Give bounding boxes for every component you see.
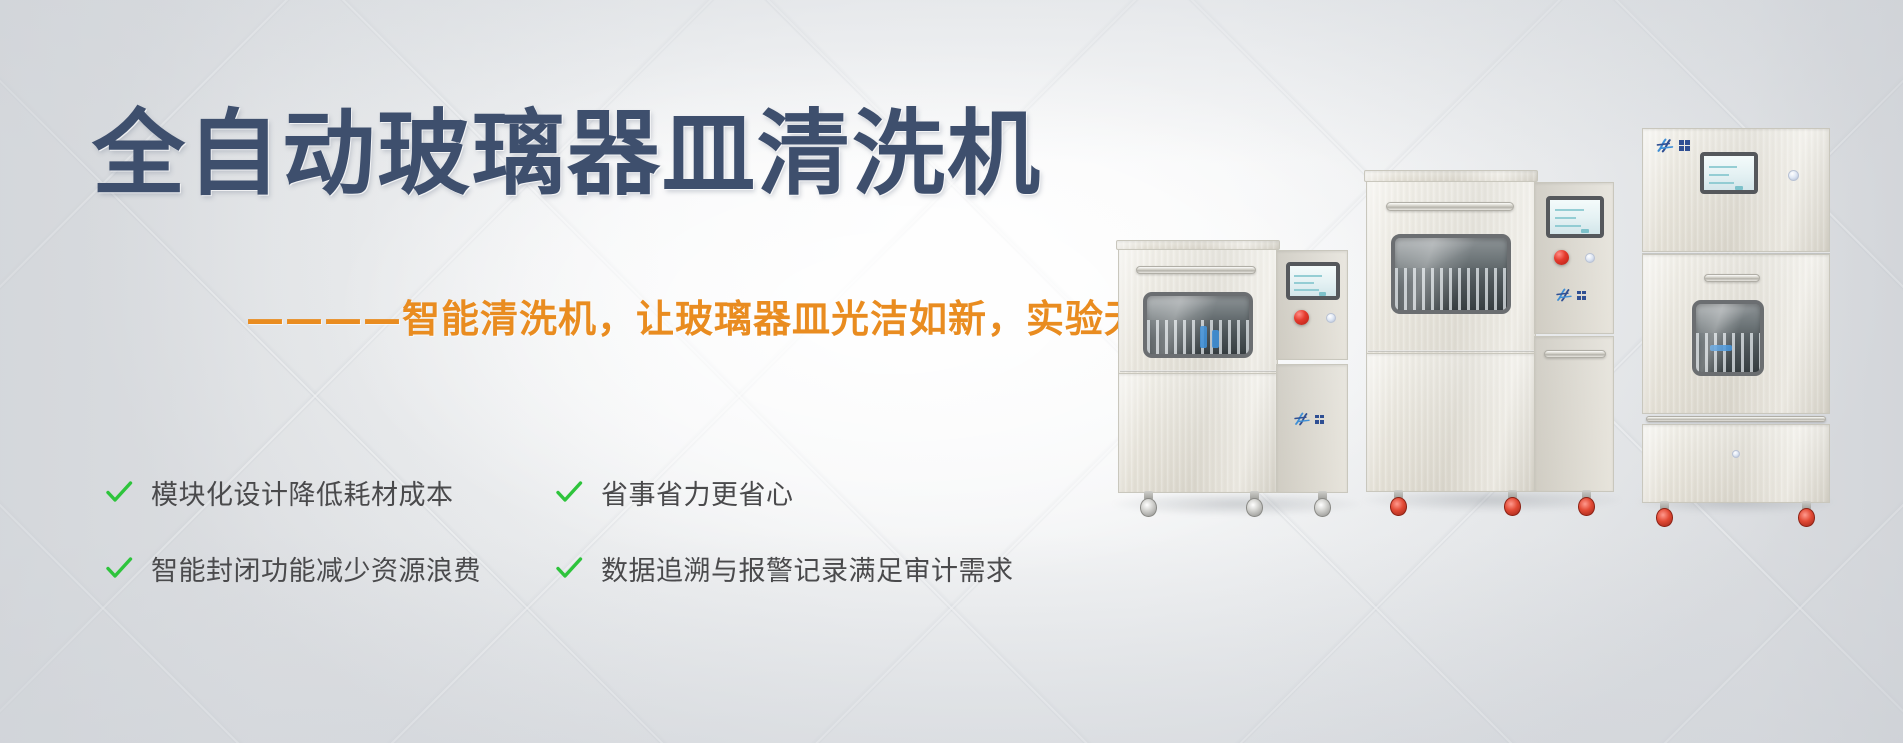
feature-label: 省事省力更省心: [601, 473, 794, 512]
emergency-stop-button[interactable]: [1294, 310, 1309, 325]
blue-pipette: [1212, 330, 1219, 348]
feature-label: 智能封闭功能减少资源浪费: [151, 549, 481, 588]
power-button[interactable]: [1326, 313, 1336, 323]
door-handle[interactable]: [1704, 274, 1760, 282]
washer-top-lip: [1364, 170, 1538, 182]
caster-wheel: [1140, 491, 1157, 517]
feature-item: 数据追溯与报警记录满足审计需求: [555, 538, 1065, 598]
lower-drawer-panel: [1118, 373, 1278, 493]
caster-wheel: [1314, 491, 1331, 517]
caster-wheel: [1578, 490, 1595, 516]
caster-wheel: [1390, 490, 1407, 516]
brand-mark-icon: [1294, 412, 1312, 426]
screen-indicator: [1735, 186, 1743, 190]
touchscreen-display[interactable]: [1700, 152, 1758, 194]
door-handle[interactable]: [1544, 350, 1606, 358]
door-handle[interactable]: [1646, 416, 1826, 422]
door-seam: [1368, 350, 1534, 352]
feature-label: 模块化设计降低耗材成本: [151, 473, 454, 512]
feature-label: 数据追溯与报警记录满足审计需求: [601, 549, 1014, 588]
screen-line: [1709, 182, 1734, 184]
power-button[interactable]: [1788, 170, 1799, 181]
feature-list: 模块化设计降低耗材成本 省事省力更省心 智能封闭功能减少资源浪费 数据追溯与报警…: [105, 462, 1065, 598]
screen-line: [1294, 289, 1319, 291]
page-subtitle: ————智能清洗机，让玻璃器皿光洁如新，实验无忧！: [246, 288, 1221, 343]
undercounter-glassware-washer: [1118, 240, 1348, 500]
control-column-cabinet: [1276, 364, 1348, 493]
lower-drawer-panel: [1366, 353, 1536, 492]
screen-line: [1555, 225, 1581, 227]
caster-wheel: [1798, 501, 1815, 527]
screen-line: [1294, 275, 1322, 277]
product-image-group: [1090, 0, 1903, 743]
caster-wheel: [1504, 490, 1521, 516]
caster-wheel: [1656, 501, 1673, 527]
brand-mark-icon: [1556, 288, 1574, 302]
banner-copy: 全自动玻璃器皿清洗机 ————智能清洗机，让玻璃器皿光洁如新，实验无忧！ 模块化…: [0, 0, 1120, 743]
check-icon: [105, 554, 133, 582]
screen-line: [1709, 174, 1729, 176]
screen-indicator: [1319, 292, 1326, 296]
check-icon: [105, 478, 133, 506]
touchscreen-display[interactable]: [1286, 262, 1340, 300]
page-title: 全自动玻璃器皿清洗机: [92, 104, 1042, 204]
emergency-stop-button[interactable]: [1554, 250, 1569, 265]
feature-item: 智能封闭功能减少资源浪费: [105, 538, 473, 598]
cabinet-lock-icon: [1732, 450, 1740, 458]
brand-logo: [1294, 412, 1324, 426]
screen-indicator: [1581, 229, 1589, 233]
brand-logo: [1656, 138, 1690, 153]
lower-cabinet-panel: [1642, 424, 1830, 503]
viewing-window: [1143, 292, 1253, 358]
door-handle[interactable]: [1136, 266, 1256, 274]
feature-item: 省事省力更省心: [555, 462, 1065, 522]
check-icon: [555, 478, 583, 506]
touchscreen-display[interactable]: [1546, 196, 1604, 238]
viewing-window: [1391, 234, 1511, 314]
brand-blocks-icon: [1679, 140, 1690, 151]
freestanding-glassware-washer: [1366, 170, 1614, 500]
check-icon: [555, 554, 583, 582]
viewing-window: [1692, 300, 1764, 376]
power-button[interactable]: [1585, 253, 1595, 263]
tall-column-glassware-washer: [1642, 128, 1832, 503]
screen-line: [1709, 166, 1737, 168]
brand-mark-icon: [1656, 138, 1676, 153]
brand-logo: [1556, 288, 1586, 302]
caster-wheel: [1246, 491, 1263, 517]
screen-line: [1294, 282, 1314, 284]
door-seam: [1120, 370, 1276, 372]
screen-line: [1555, 217, 1576, 219]
control-column-cabinet: [1534, 336, 1614, 492]
product-banner: 全自动玻璃器皿清洗机 ————智能清洗机，让玻璃器皿光洁如新，实验无忧！ 模块化…: [0, 0, 1903, 743]
brand-blocks-icon: [1577, 291, 1586, 300]
washer-top-lip: [1116, 240, 1280, 250]
door-handle[interactable]: [1386, 202, 1514, 211]
feature-item: 模块化设计降低耗材成本: [105, 462, 473, 522]
screen-line: [1555, 209, 1584, 211]
brand-blocks-icon: [1315, 415, 1324, 424]
